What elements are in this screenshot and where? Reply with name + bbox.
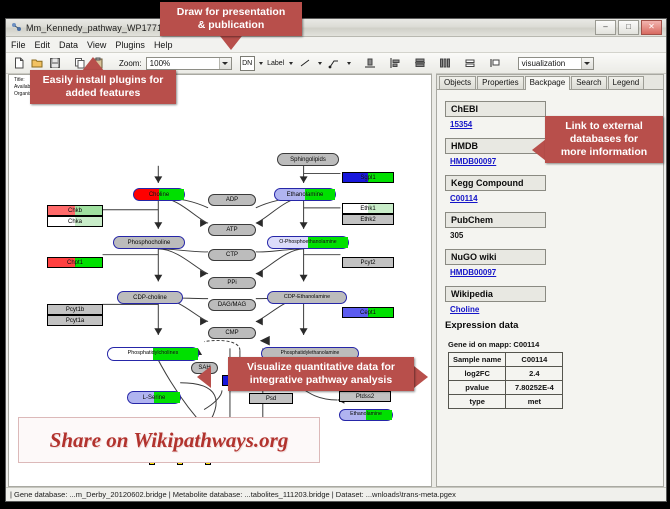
callout-draw-line1: Draw for presentation (168, 6, 294, 19)
node-cmp[interactable]: CMP (208, 327, 256, 339)
node-label: Ethanolamine (350, 412, 382, 417)
db-header-nugo: NuGO wiki (445, 249, 546, 265)
row-value: met (506, 395, 563, 409)
node-label: Phosphatidylcholines (128, 351, 179, 356)
row-value: 7.80252E-4 (506, 381, 563, 395)
align-left-icon[interactable] (387, 55, 404, 72)
node-label: O-Phosphoethanolamine (279, 240, 336, 245)
gene-chpt1[interactable]: Chpt1 (47, 257, 103, 268)
datanode-label: DN (242, 60, 252, 67)
pathway-icon (11, 22, 22, 33)
db-header-kegg: Kegg Compound (445, 175, 546, 191)
table-row: type met (449, 395, 563, 409)
gene-label: Ethk1 (360, 206, 375, 212)
label-tool[interactable]: Label (267, 55, 285, 72)
node-cdp-choline[interactable]: CDP-choline (117, 291, 183, 304)
node-label: Ethanolamine (287, 192, 324, 198)
visualization-value: visualization (522, 59, 566, 68)
gene-label: Pcyt1b (66, 307, 84, 313)
node-label: Sphingolipids (290, 157, 326, 163)
node-label: L-Serine (143, 395, 166, 401)
datanode-dropdown-icon[interactable] (256, 55, 266, 72)
db-link-nugo[interactable]: HMDB00097 (450, 268, 655, 277)
gene-label: Psd (266, 396, 276, 402)
gene-label: Sgpl1 (360, 175, 375, 181)
menu-view[interactable]: View (87, 40, 106, 50)
db-value-pubchem: 305 (450, 231, 655, 240)
gene-pcyt1a[interactable]: Pcyt1a (47, 315, 103, 326)
zoom-combo[interactable]: 100% (146, 57, 232, 70)
callout-visualize: Visualize quantitative data for integrat… (228, 357, 414, 391)
status-bar: | Gene database: ...m_Derby_20120602.bri… (6, 487, 666, 501)
callout-plugins-arrow-icon (82, 57, 104, 71)
node-label: ATP (226, 227, 237, 233)
callout-draw-arrow-icon (220, 36, 242, 50)
callout-visualize-arrow-left-icon (197, 366, 211, 388)
callout-plugins-line2: added features (38, 87, 168, 100)
row-key: Sample name (449, 353, 506, 367)
gene-label: Ethk2 (360, 217, 375, 223)
callout-draw-line2: & publication (168, 19, 294, 32)
node-l-serine-left[interactable]: L-Serine (127, 391, 181, 404)
node-dagmag[interactable]: DAG/MAG (208, 299, 256, 311)
node-phosphatidylcholines[interactable]: Phosphatidylcholines (107, 347, 199, 361)
callout-draw: Draw for presentation & publication (160, 2, 302, 36)
line-icon[interactable] (297, 55, 314, 72)
tab-properties[interactable]: Properties (477, 76, 523, 89)
chevron-down-icon-2 (581, 58, 593, 69)
node-ethanolamine-right[interactable]: Ethanolamine (339, 409, 393, 421)
gene-pcyt2[interactable]: Pcyt2 (342, 257, 394, 268)
tab-objects[interactable]: Objects (439, 76, 476, 89)
distribute-horizontal-icon[interactable] (437, 55, 454, 72)
menu-edit[interactable]: Edit (35, 40, 51, 50)
menu-data[interactable]: Data (59, 40, 78, 50)
node-sphingolipids[interactable]: Sphingolipids (277, 153, 339, 166)
new-file-icon[interactable] (10, 55, 27, 72)
gene-sgpl1[interactable]: Sgpl1 (342, 172, 394, 183)
datanode-icon[interactable]: DN (240, 56, 255, 71)
callout-visualize-line2: integrative pathway analysis (236, 374, 406, 387)
row-value: 2.4 (506, 367, 563, 381)
callout-plugins-line1: Easily install plugins for (38, 74, 168, 87)
callout-share: Share on Wikipathways.org (18, 417, 320, 463)
side-panel-tabs: Objects Properties Backpage Search Legen… (437, 75, 663, 90)
gene-label: Chka (68, 219, 82, 225)
callout-links-line1: Link to external (553, 120, 655, 133)
node-ppi[interactable]: PPi (208, 277, 256, 289)
label-dropdown-icon[interactable] (286, 55, 296, 72)
open-folder-icon[interactable] (28, 55, 45, 72)
node-cdp-ethanolamine[interactable]: CDP-Ethanolamine (267, 291, 347, 304)
common-height-icon[interactable] (487, 55, 504, 72)
expression-data-title: Expression data (445, 320, 655, 331)
gene-cept1[interactable]: Cept1 (342, 307, 394, 318)
node-atp[interactable]: ATP (208, 224, 256, 236)
callout-visualize-line1: Visualize quantitative data for (236, 361, 406, 374)
status-text: | Gene database: ...m_Derby_20120602.bri… (10, 490, 456, 499)
zoom-label: Zoom: (119, 59, 142, 68)
gene-label: Cept1 (360, 310, 376, 316)
maximize-button[interactable]: □ (618, 20, 639, 35)
common-width-icon[interactable] (462, 55, 479, 72)
node-label: CMP (225, 330, 238, 336)
table-row: pvalue 7.80252E-4 (449, 381, 563, 395)
align-bottom-icon[interactable] (362, 55, 379, 72)
gene-pcyt1b[interactable]: Pcyt1b (47, 304, 103, 315)
callout-links-arrow-icon (532, 139, 546, 161)
gene-ethk2[interactable]: Ethk2 (342, 214, 394, 225)
callout-share-text: Share on Wikipathways.org (50, 428, 289, 453)
gene-id-line: Gene id on mapp: C00114 (448, 340, 655, 349)
minimize-button[interactable]: – (595, 20, 616, 35)
line-dropdown-icon[interactable] (315, 55, 325, 72)
tab-search[interactable]: Search (571, 76, 606, 89)
db-header-hmdb: HMDB (445, 138, 546, 154)
db-link-kegg[interactable]: C00114 (450, 194, 655, 203)
node-label: CDP-Ethanolamine (284, 295, 330, 300)
close-button[interactable]: ✕ (641, 20, 662, 35)
row-value: C00114 (506, 353, 563, 367)
row-key: log2FC (449, 367, 506, 381)
node-label: Phosphocholine (128, 240, 171, 246)
title-bar: Mm_Kennedy_pathway_WP1771_45176.gpml – □… (6, 19, 666, 37)
tab-legend[interactable]: Legend (608, 76, 645, 89)
node-adp[interactable]: ADP (208, 194, 256, 206)
node-label: PPi (227, 280, 236, 286)
tab-backpage[interactable]: Backpage (525, 76, 571, 90)
gene-chka[interactable]: Chka (47, 216, 103, 227)
row-key: pvalue (449, 381, 506, 395)
stack-vertical-icon[interactable] (412, 55, 429, 72)
gene-chkb[interactable]: Chkb (47, 205, 103, 216)
node-ethanolamine[interactable]: Ethanolamine (274, 188, 336, 201)
gene-label: Ptdss2 (356, 394, 374, 400)
db-link-wikipedia[interactable]: Choline (450, 305, 655, 314)
callout-links-line3: more information (553, 146, 655, 159)
db-header-pubchem: PubChem (445, 212, 546, 228)
node-label: Phosphatidylethanolamine (281, 351, 340, 356)
node-label: ADP (226, 197, 238, 203)
callout-plugins: Easily install plugins for added feature… (30, 70, 176, 104)
menu-file[interactable]: File (11, 40, 26, 50)
save-icon[interactable] (46, 55, 63, 72)
window-controls: – □ ✕ (595, 20, 663, 35)
visualization-combo[interactable]: visualization (518, 57, 594, 70)
interaction-icon[interactable] (326, 55, 343, 72)
gene-ptdss2[interactable]: Ptdss2 (339, 391, 391, 402)
table-row: Sample name C00114 (449, 353, 563, 367)
callout-links: Link to external databases for more info… (545, 116, 663, 163)
zoom-value: 100% (150, 59, 170, 68)
menu-help[interactable]: Help (154, 40, 173, 50)
node-label: CDP-choline (133, 295, 167, 301)
screen: Mm_Kennedy_pathway_WP1771_45176.gpml – □… (0, 0, 670, 509)
gene-ethk1[interactable]: Ethk1 (342, 203, 394, 214)
gene-psd[interactable]: Psd (249, 393, 293, 404)
node-choline[interactable]: Choline (133, 188, 185, 201)
callout-visualize-arrow-right-icon (414, 366, 428, 388)
node-phosphocholine[interactable]: Phosphocholine (113, 236, 185, 249)
callout-links-line2: databases for (553, 133, 655, 146)
db-header-chebi: ChEBI (445, 101, 546, 117)
gene-label: Chpt1 (67, 260, 83, 266)
gene-label: Chkb (68, 208, 82, 214)
chevron-down-icon (219, 58, 231, 69)
interaction-dropdown-icon[interactable] (344, 55, 354, 72)
table-row: log2FC 2.4 (449, 367, 563, 381)
row-key: type (449, 395, 506, 409)
node-label: CTP (226, 252, 238, 258)
expression-table: Sample name C00114 log2FC 2.4 pvalue 7.8… (448, 352, 563, 409)
node-ctp[interactable]: CTP (208, 249, 256, 261)
gene-label: Pcyt1a (66, 318, 84, 324)
gene-label: Pcyt2 (360, 260, 375, 266)
node-o-phosphoethanolamine[interactable]: O-Phosphoethanolamine (267, 236, 349, 249)
node-label: Choline (149, 192, 169, 198)
label-tool-label: Label (267, 60, 284, 67)
menu-bar: File Edit Data View Plugins Help (6, 37, 666, 53)
node-label: DAG/MAG (218, 302, 246, 308)
menu-plugins[interactable]: Plugins (115, 40, 145, 50)
db-header-wikipedia: Wikipedia (445, 286, 546, 302)
